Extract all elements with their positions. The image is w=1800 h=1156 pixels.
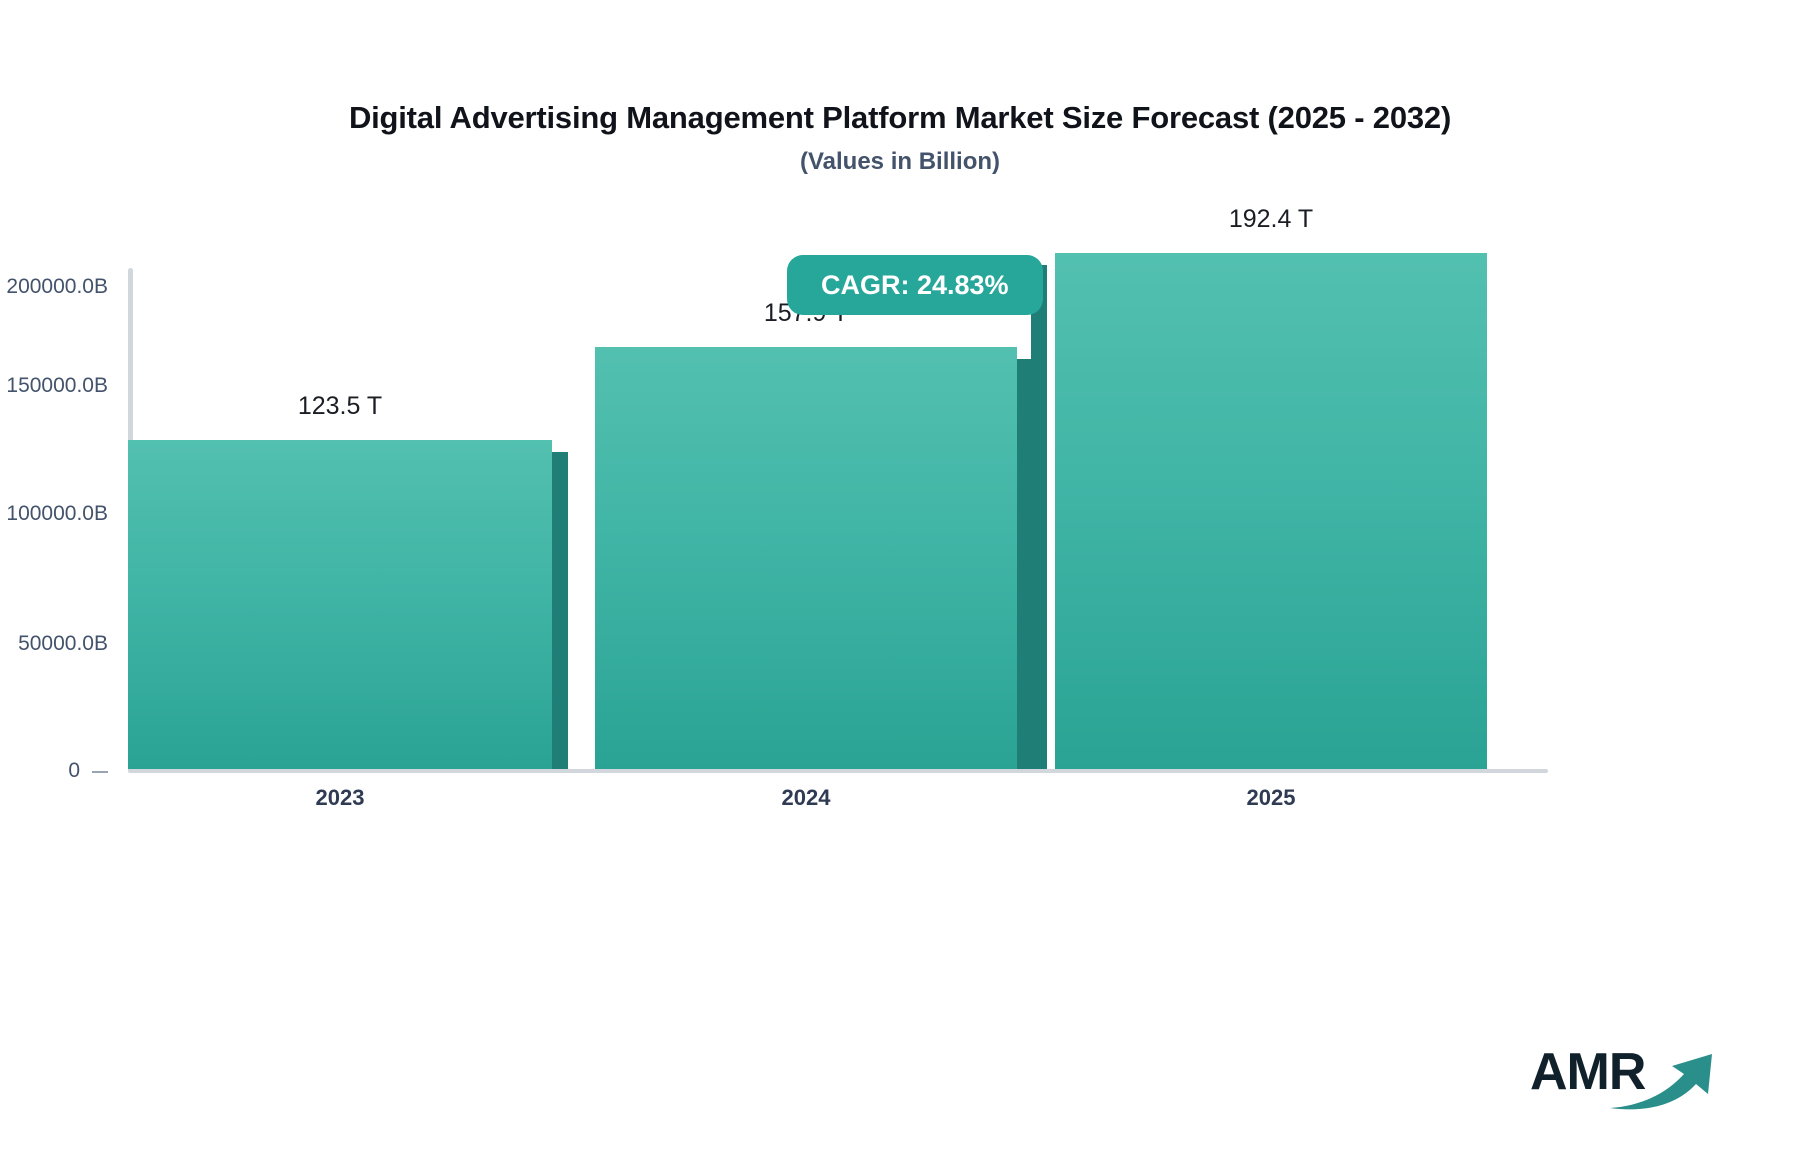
growth-arrow-icon — [1608, 1050, 1728, 1112]
cagr-badge: CAGR: 24.83% — [787, 255, 1043, 315]
chart-page: Digital Advertising Management Platform … — [0, 0, 1800, 1156]
amr-logo: AMR — [1530, 1040, 1730, 1115]
bar-2025[interactable] — [1055, 253, 1487, 769]
bar-value-2023: 123.5 T — [128, 392, 552, 421]
y-tick-label-100000: 100000.0B — [0, 502, 108, 526]
bar-2023[interactable] — [128, 440, 552, 769]
bar-group-2023[interactable]: 123.5 T — [128, 440, 568, 769]
y-tick-label-200000: 200000.0B — [0, 275, 108, 299]
x-axis-line — [128, 769, 1548, 773]
x-tick-label-2024: 2024 — [595, 785, 1017, 811]
x-tick-label-2025: 2025 — [1055, 785, 1487, 811]
y-tick-label-0: 0 — [0, 759, 80, 783]
bar-2024[interactable] — [595, 347, 1017, 769]
bar-side-shadow-2025 — [1031, 265, 1047, 769]
bar-group-2025[interactable]: 192.4 T — [1043, 253, 1483, 769]
bar-group-2024[interactable]: 157.9 T — [595, 347, 1035, 769]
y-tick-label-50000: 50000.0B — [0, 632, 108, 656]
x-tick-label-2023: 2023 — [128, 785, 552, 811]
plot-area: 200000.0B 150000.0B 100000.0B 50000.0B 0… — [0, 0, 1800, 1156]
bar-side-shadow-2023 — [552, 452, 568, 769]
y-tick-label-150000: 150000.0B — [0, 374, 108, 398]
bar-value-2025: 192.4 T — [1055, 205, 1487, 234]
y-tick-dash-0 — [92, 771, 108, 773]
